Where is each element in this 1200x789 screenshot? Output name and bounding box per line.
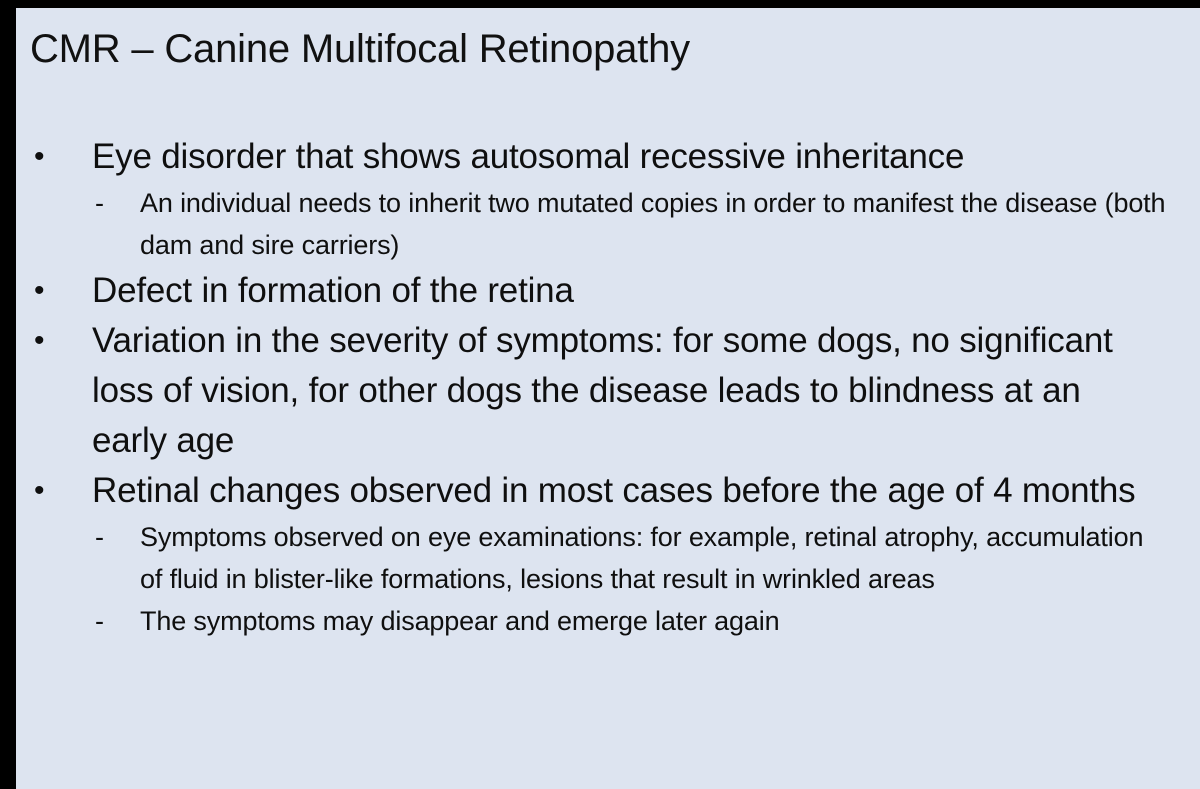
slide-frame: CMR – Canine Multifocal Retinopathy • Ey… [0, 0, 1200, 789]
bullet-dot-icon: • [34, 132, 54, 182]
list-item: - The symptoms may disappear and emerge … [16, 600, 1200, 642]
list-item: - An individual needs to inherit two mut… [16, 182, 1200, 266]
list-item-text: The symptoms may disappear and emerge la… [140, 600, 1170, 642]
bullet-dot-icon: • [34, 316, 54, 366]
page-title: CMR – Canine Multifocal Retinopathy [30, 24, 690, 74]
dash-bullet-icon: - [95, 516, 115, 558]
list-item-text: Eye disorder that shows autosomal recess… [92, 132, 1152, 182]
dash-bullet-icon: - [95, 600, 115, 642]
list-item: • Retinal changes observed in most cases… [16, 466, 1200, 516]
bullet-dot-icon: • [34, 466, 54, 516]
bullet-dot-icon: • [34, 266, 54, 316]
list-item: • Eye disorder that shows autosomal rece… [16, 132, 1200, 182]
list-item-text: An individual needs to inherit two mutat… [140, 182, 1170, 266]
list-item: • Variation in the severity of symptoms:… [16, 316, 1200, 466]
slide-content-list: • Eye disorder that shows autosomal rece… [16, 132, 1200, 642]
list-item-text: Defect in formation of the retina [92, 266, 1152, 316]
list-item: • Defect in formation of the retina [16, 266, 1200, 316]
list-item-text: Variation in the severity of symptoms: f… [92, 316, 1152, 466]
list-item-text: Retinal changes observed in most cases b… [92, 466, 1152, 516]
slide-body: CMR – Canine Multifocal Retinopathy • Ey… [16, 8, 1200, 789]
list-item-text: Symptoms observed on eye examinations: f… [140, 516, 1170, 600]
dash-bullet-icon: - [95, 182, 115, 224]
list-item: - Symptoms observed on eye examinations:… [16, 516, 1200, 600]
